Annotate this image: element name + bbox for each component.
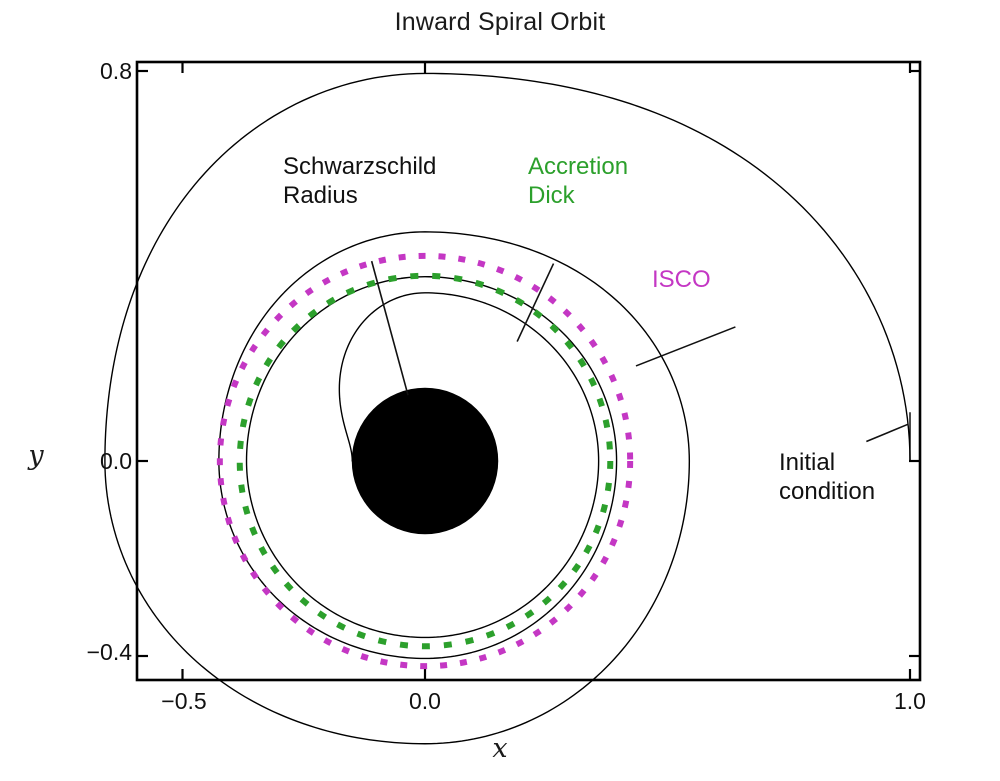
annotation-accretion-disk: Accretion Dick	[528, 152, 628, 211]
x-tick-label-1: 0.0	[370, 688, 480, 715]
annotation-initial-condition: Initial condition	[779, 448, 875, 507]
figure-canvas: Inward Spiral Orbit 0.8 0.0 −0.4 −0.5 0.…	[0, 0, 1000, 781]
black-hole-horizon	[352, 388, 498, 534]
x-tick-label-2: 1.0	[855, 688, 965, 715]
x-tick-label-0: −0.5	[129, 688, 239, 715]
y-tick-label-0: 0.8	[42, 58, 132, 85]
leader-line-isco	[636, 327, 735, 366]
y-tick-label-2: −0.4	[42, 639, 132, 666]
orbit-trajectory	[105, 73, 910, 743]
annotation-isco: ISCO	[652, 265, 711, 294]
plot-area	[0, 0, 1000, 781]
x-axis-label: x	[0, 733, 1000, 764]
annotation-schwarzschild-radius: Schwarzschild Radius	[283, 152, 436, 211]
leader-line-initial-condition	[866, 424, 907, 441]
y-axis-label: y	[14, 440, 58, 471]
